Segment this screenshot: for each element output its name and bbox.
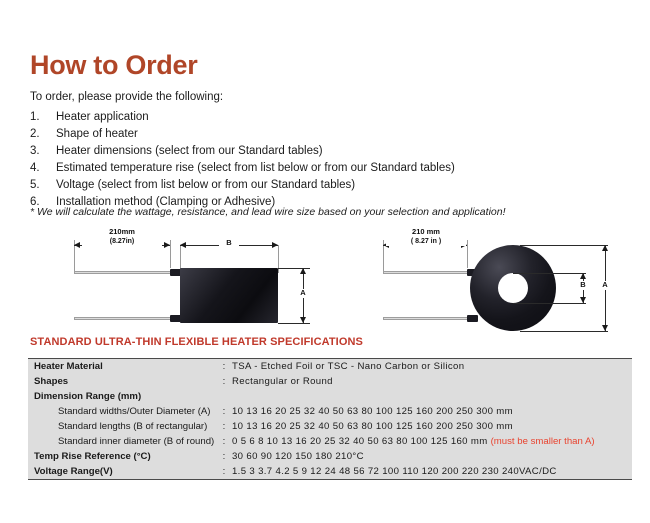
table-row: Temp Rise Reference (°C) : 30 60 90 120 … <box>28 449 632 464</box>
rect-width-label: B <box>219 239 239 248</box>
round-a-arrow-up <box>602 245 608 251</box>
rect-lead-wire-bottom <box>74 317 180 320</box>
round-b-arrow-down <box>580 297 586 303</box>
table-row: Voltage Range(V) : 1.5 3 3.7 4.2 5 9 12 … <box>28 464 632 479</box>
rect-lead-length-in: (8.27in) <box>110 238 135 245</box>
table-row: Standard inner diameter (B of round) : 0… <box>28 434 632 449</box>
list-item-label: Estimated temperature rise (select from … <box>56 162 455 174</box>
spec-table-title: STANDARD ULTRA-THIN FLEXIBLE HEATER SPEC… <box>30 336 363 348</box>
row-value: TSA - Etched Foil or TSC - Nano Carbon o… <box>232 361 632 372</box>
row-value: 0 5 6 8 10 13 16 20 25 32 40 50 63 80 10… <box>232 436 632 447</box>
list-item-label: Shape of heater <box>56 128 138 140</box>
list-item-number: 1. <box>30 111 56 123</box>
round-outer-diameter-label: A <box>597 281 613 290</box>
row-colon: : <box>216 376 232 387</box>
list-item-number: 5. <box>30 179 56 191</box>
table-row: Standard widths/Outer Diameter (A) : 10 … <box>28 404 632 419</box>
rect-b-arrow-right <box>272 242 278 248</box>
round-inner-diameter-label: B <box>575 281 591 290</box>
row-colon: : <box>216 451 232 462</box>
rect-lead-arrow-right <box>164 242 170 248</box>
rect-lead-arrow-left <box>74 242 80 248</box>
round-lead-length-in: ( 8.27 in ) <box>411 238 441 245</box>
rect-lead-ext-right <box>170 240 171 268</box>
round-lead-ext-right <box>467 240 468 268</box>
round-lead-dimension-label: 210 mm ( 8.27 in ) <box>386 228 466 246</box>
round-a-arrow-down <box>602 325 608 331</box>
row-value: Rectangular or Round <box>232 376 632 387</box>
row-value: 10 13 16 20 25 32 40 50 63 80 100 125 16… <box>232 406 632 417</box>
order-steps-list: 1. Heater application 2. Shape of heater… <box>30 108 610 210</box>
rect-a-ext-bottom <box>278 323 310 324</box>
round-b-arrow-up <box>580 273 586 279</box>
rect-b-arrow-left <box>180 242 186 248</box>
table-row: Standard lengths (B of rectangular) : 10… <box>28 419 632 434</box>
row-label: Shapes <box>28 376 216 387</box>
row-colon: : <box>216 406 232 417</box>
intro-text: To order, please provide the following: <box>30 91 223 103</box>
rect-lead-length-mm: 210mm <box>109 227 135 236</box>
footnote-text: * We will calculate the wattage, resista… <box>30 206 506 218</box>
round-b-ext-bottom <box>513 303 586 304</box>
rect-a-arrow-up <box>300 268 306 274</box>
list-item: 1. Heater application <box>30 108 610 125</box>
round-lead-boot-bottom <box>467 315 478 322</box>
row-value-text: 0 5 6 8 10 13 16 20 25 32 40 50 63 80 10… <box>232 436 491 447</box>
list-item-label: Heater dimensions (select from our Stand… <box>56 145 323 157</box>
list-item: 3. Heater dimensions (select from our St… <box>30 142 610 159</box>
list-item-number: 3. <box>30 145 56 157</box>
round-b-ext-top <box>513 273 586 274</box>
round-lead-wire-bottom <box>383 317 471 320</box>
row-value: 30 60 90 120 150 180 210°C <box>232 451 632 462</box>
rect-lead-dimension-label: 210mm (8.27in) <box>82 228 162 246</box>
row-label: Standard widths/Outer Diameter (A) <box>28 406 216 417</box>
row-label: Voltage Range(V) <box>28 466 216 477</box>
round-a-ext-top <box>520 245 608 246</box>
row-value: 10 13 16 20 25 32 40 50 63 80 100 125 16… <box>232 421 632 432</box>
row-label: Standard inner diameter (B of round) <box>28 436 216 447</box>
row-label: Temp Rise Reference (°C) <box>28 451 216 462</box>
round-lead-wire-top <box>383 271 471 274</box>
spec-table: Heater Material : TSA - Etched Foil or T… <box>28 358 632 480</box>
rect-height-label: A <box>294 289 312 298</box>
row-label: Standard lengths (B of rectangular) <box>28 421 216 432</box>
row-label: Dimension Range (mm) <box>28 391 216 402</box>
round-heater-inner-hole <box>498 273 528 303</box>
table-row: Heater Material : TSA - Etched Foil or T… <box>28 359 632 374</box>
product-diagrams: 210mm (8.27in) B A 210 mm <box>0 228 650 340</box>
list-item: 2. Shape of heater <box>30 125 610 142</box>
table-row: Dimension Range (mm) <box>28 389 632 404</box>
list-item: 4. Estimated temperature rise (select fr… <box>30 159 610 176</box>
list-item: 5. Voltage (select from list below or fr… <box>30 176 610 193</box>
rect-a-arrow-down <box>300 317 306 323</box>
row-colon: : <box>216 421 232 432</box>
inner-diameter-warning-note: (must be smaller than A) <box>491 436 595 447</box>
row-value: 1.5 3 3.7 4.2 5 9 12 24 48 56 72 100 110… <box>232 466 632 477</box>
page-title: How to Order <box>30 52 197 79</box>
rect-heater-body <box>180 268 278 323</box>
table-row: Shapes : Rectangular or Round <box>28 374 632 389</box>
rect-lead-wire-top <box>74 271 180 274</box>
list-item-number: 2. <box>30 128 56 140</box>
round-a-ext-bottom <box>520 331 608 332</box>
list-item-label: Voltage (select from list below or from … <box>56 179 355 191</box>
list-item-label: Heater application <box>56 111 149 123</box>
row-label: Heater Material <box>28 361 216 372</box>
row-colon: : <box>216 466 232 477</box>
round-lead-length-mm: 210 mm <box>412 227 440 236</box>
list-item-number: 4. <box>30 162 56 174</box>
row-colon: : <box>216 361 232 372</box>
row-colon: : <box>216 436 232 447</box>
